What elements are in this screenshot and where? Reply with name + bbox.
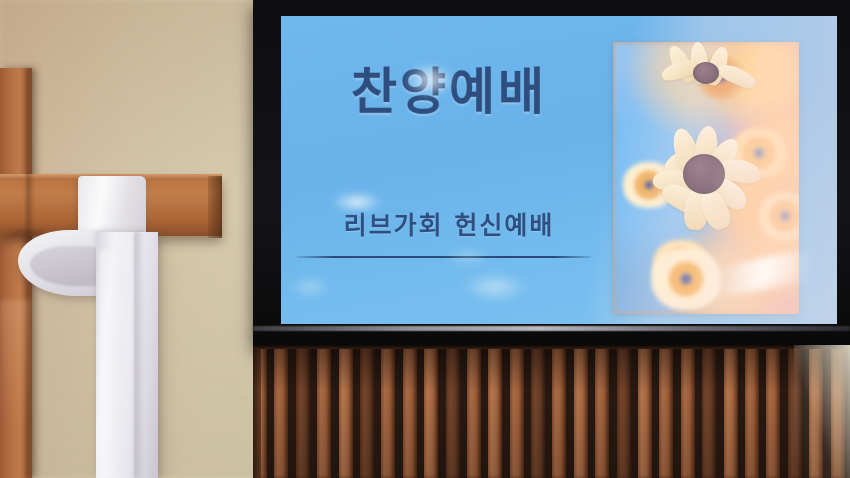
screen-glare-spot	[331, 192, 383, 212]
screen-glare-spot	[405, 63, 455, 97]
cloth-highlight	[100, 250, 120, 478]
cloth-fold-line	[134, 232, 144, 478]
slat-row	[253, 345, 850, 478]
slat-wall-left-edge	[253, 345, 261, 478]
cross-highlight	[0, 300, 30, 430]
cross-beam-end	[208, 176, 222, 238]
photo-scene: 찬양예배 리브가회 헌신예배	[0, 0, 850, 478]
tv-bottom-edge-sheen	[253, 326, 850, 331]
screen-glare-spot	[446, 250, 490, 264]
screen-glare-spot	[462, 274, 528, 300]
wooden-slat-wall	[253, 345, 850, 478]
slat-wall-top-rail	[253, 345, 850, 349]
tv-screen: 찬양예배 리브가회 헌신예배	[281, 16, 837, 324]
screen-glare-spot	[290, 278, 330, 296]
